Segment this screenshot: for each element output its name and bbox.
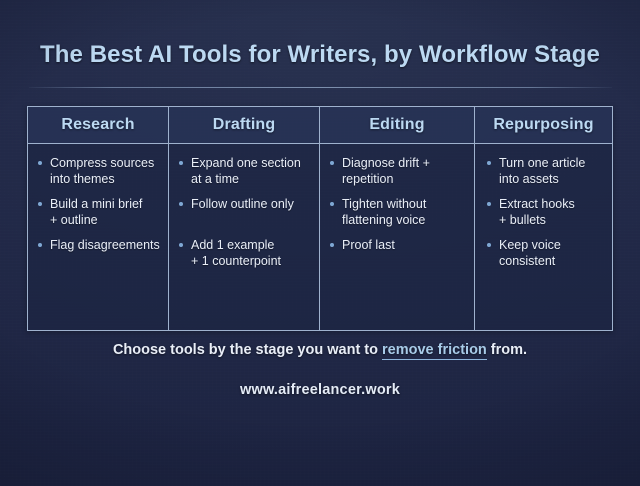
column-header-drafting: Drafting bbox=[168, 107, 319, 143]
bullet-dot-icon bbox=[179, 161, 183, 165]
column-body-repurposing: Turn one article into assets Extract hoo… bbox=[474, 144, 612, 330]
list-item: Diagnose drift + repetition bbox=[330, 155, 468, 187]
list-item-line-1: Build a mini brief bbox=[50, 197, 142, 211]
list-item: Proof last bbox=[330, 237, 468, 269]
tagline: Choose tools by the stage you want to re… bbox=[0, 342, 640, 358]
tagline-text-after: from. bbox=[487, 342, 527, 358]
list-item: Extract hooks + bullets bbox=[487, 196, 606, 228]
list-item-line-2: + outline bbox=[50, 212, 162, 228]
column-header-research: Research bbox=[28, 107, 168, 143]
bullet-list: Diagnose drift + repetition Tighten with… bbox=[330, 155, 468, 269]
list-item: Turn one article into assets bbox=[487, 155, 606, 187]
bullet-dot-icon bbox=[487, 243, 491, 247]
column-header-label: Research bbox=[61, 116, 134, 134]
bullet-dot-icon bbox=[330, 161, 334, 165]
list-item-line-1: Add 1 example bbox=[191, 238, 274, 252]
column-header-repurposing: Repurposing bbox=[474, 107, 612, 143]
bullet-dot-icon bbox=[38, 202, 42, 206]
bullet-dot-icon bbox=[330, 243, 334, 247]
list-item-line-2: + 1 counterpoint bbox=[191, 253, 313, 269]
column-header-label: Repurposing bbox=[493, 116, 593, 134]
bullet-dot-icon bbox=[487, 161, 491, 165]
list-item: Tighten without flattening voice bbox=[330, 196, 468, 228]
column-header-editing: Editing bbox=[319, 107, 474, 143]
list-item-line-2: at a time bbox=[191, 171, 313, 187]
column-body-drafting: Expand one section at a time Follow outl… bbox=[168, 144, 319, 330]
page-title: The Best AI Tools for Writers, by Workfl… bbox=[0, 41, 640, 69]
list-item-line-2: + bullets bbox=[499, 212, 606, 228]
column-header-label: Editing bbox=[369, 116, 424, 134]
workflow-stage-table: Research Drafting Editing Repurposing Co… bbox=[27, 106, 613, 331]
bullet-dot-icon bbox=[330, 202, 334, 206]
column-header-label: Drafting bbox=[213, 116, 276, 134]
list-item: Expand one section at a time bbox=[179, 155, 313, 187]
list-item-line-2: into themes bbox=[50, 171, 162, 187]
list-item-line-2: into assets bbox=[499, 171, 606, 187]
list-item: Build a mini brief + outline bbox=[38, 196, 162, 228]
list-item-line-1: Turn one article bbox=[499, 156, 585, 170]
list-item-line-1: Expand one section bbox=[191, 156, 301, 170]
bullet-dot-icon bbox=[487, 202, 491, 206]
bullet-dot-icon bbox=[38, 161, 42, 165]
column-body-research: Compress sources into themes Build a min… bbox=[28, 144, 168, 330]
website-url: www.aifreelancer.work bbox=[0, 382, 640, 398]
table-header-row: Research Drafting Editing Repurposing bbox=[28, 107, 612, 144]
list-item-line-1: Diagnose drift + bbox=[342, 156, 430, 170]
list-item-line-1: Tighten without bbox=[342, 197, 426, 211]
bullet-dot-icon bbox=[179, 243, 183, 247]
infographic-canvas: The Best AI Tools for Writers, by Workfl… bbox=[0, 0, 640, 486]
list-item: Add 1 example + 1 counterpoint bbox=[179, 237, 313, 269]
list-item: Follow outline only bbox=[179, 196, 313, 228]
list-item-line-2: flattening voice bbox=[342, 212, 468, 228]
bullet-dot-icon bbox=[38, 243, 42, 247]
list-item-line-1: Follow outline only bbox=[191, 197, 294, 211]
list-item-line-1: Keep voice consistent bbox=[499, 238, 561, 268]
list-item: Keep voice consistent bbox=[487, 237, 606, 269]
tagline-text-before: Choose tools by the stage you want to bbox=[113, 342, 382, 358]
bullet-dot-icon bbox=[179, 202, 183, 206]
list-item: Compress sources into themes bbox=[38, 155, 162, 187]
bullet-list: Expand one section at a time Follow outl… bbox=[179, 155, 313, 269]
tagline-highlight: remove friction bbox=[382, 342, 487, 360]
list-item-line-1: Proof last bbox=[342, 238, 395, 252]
list-item: Flag disagreements bbox=[38, 237, 162, 269]
list-item-line-1: Extract hooks bbox=[499, 197, 575, 211]
bullet-list: Turn one article into assets Extract hoo… bbox=[487, 155, 606, 269]
table-body-row: Compress sources into themes Build a min… bbox=[28, 144, 612, 330]
list-item-line-1: Flag disagreements bbox=[50, 238, 160, 252]
bullet-list: Compress sources into themes Build a min… bbox=[38, 155, 162, 269]
title-divider bbox=[29, 87, 612, 88]
list-item-line-1: Compress sources bbox=[50, 156, 154, 170]
list-item-line-2: repetition bbox=[342, 171, 468, 187]
column-body-editing: Diagnose drift + repetition Tighten with… bbox=[319, 144, 474, 330]
